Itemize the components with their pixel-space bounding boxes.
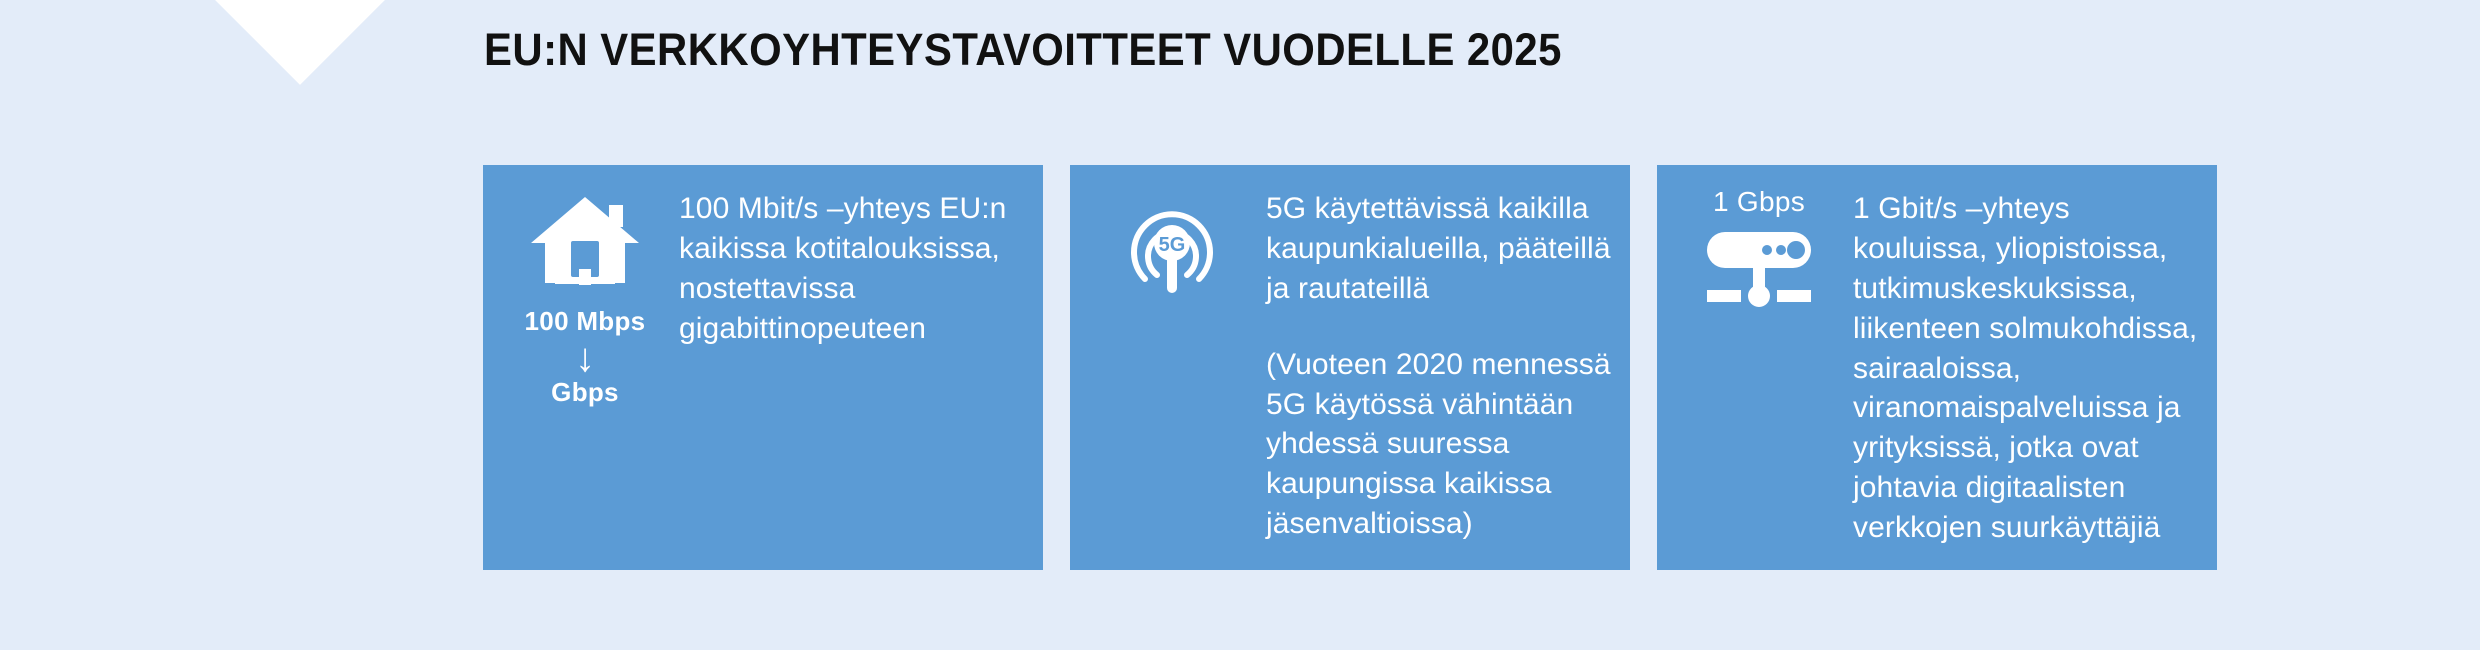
5g-antenna-icon: 5G xyxy=(1112,191,1232,303)
house-broadband-icon xyxy=(525,191,645,303)
card-3-text: 1 Gbit/s –yhteys kouluissa, yliopistoiss… xyxy=(1839,187,2207,548)
svg-text:5G: 5G xyxy=(1159,234,1186,256)
page-title: EU:N VERKKOYHTEYSTAVOITTEET VUODELLE 202… xyxy=(484,24,1562,76)
card-1-icon-column: 100 Mbps ↓ Gbps xyxy=(505,187,665,406)
card-broadband-100mbit: 100 Mbps ↓ Gbps 100 Mbit/s –yhteys EU:n … xyxy=(483,165,1043,570)
card-1-target-label: Gbps xyxy=(551,378,619,407)
server-router-icon xyxy=(1699,226,1819,338)
card-gigabit-institutions: 1 Gbps 1 Gbit/s –yhteys kouluissa, xyxy=(1657,165,2217,570)
chevron-decoration-icon xyxy=(208,0,392,85)
card-2-text: 5G käytettävissä kaikilla kaupunkialueil… xyxy=(1252,187,1620,544)
card-3-icon-column: 1 Gbps xyxy=(1679,187,1839,338)
infographic-canvas: EU:N VERKKOYHTEYSTAVOITTEET VUODELLE 202… xyxy=(0,0,2480,650)
card-1-speed-label: 100 Mbps xyxy=(525,307,646,336)
card-1-paragraph-1: 100 Mbit/s –yhteys EU:n kaikissa kotital… xyxy=(679,189,1033,349)
card-2-paragraph-2: (Vuoteen 2020 mennessä 5G käytössä vähin… xyxy=(1266,345,1620,544)
card-3-speed-label: 1 Gbps xyxy=(1713,187,1805,218)
card-3-paragraph-1: 1 Gbit/s –yhteys kouluissa, yliopistoiss… xyxy=(1853,189,2207,548)
down-arrow-icon: ↓ xyxy=(575,340,595,376)
card-2-icon-column: 5G xyxy=(1092,187,1252,303)
card-5g-coverage: 5G 5G käytettävissä kaikilla kaupunkialu… xyxy=(1070,165,1630,570)
card-2-paragraph-1: 5G käytettävissä kaikilla kaupunkialueil… xyxy=(1266,189,1620,309)
card-1-text: 100 Mbit/s –yhteys EU:n kaikissa kotital… xyxy=(665,187,1033,349)
cards-row: 100 Mbps ↓ Gbps 100 Mbit/s –yhteys EU:n … xyxy=(483,165,2251,570)
